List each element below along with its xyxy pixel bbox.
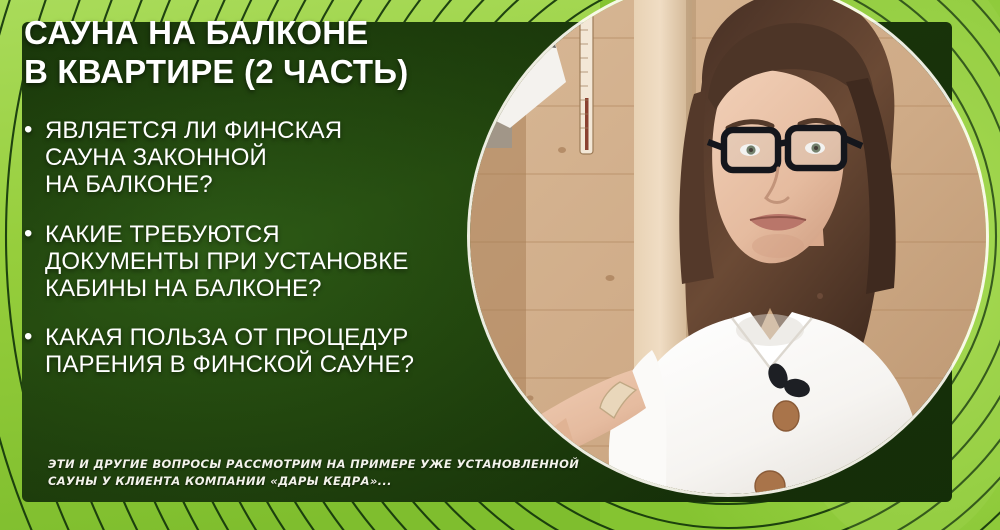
- list-item-question-2: КАКИЕ ТРЕБУЮТСЯ ДОКУМЕНТЫ ПРИ УСТАНОВКЕ …: [24, 221, 494, 302]
- poster-canvas: САУНА НА БАЛКОНЕ В КВАРТИРЕ (2 ЧАСТЬ) ЯВ…: [0, 0, 1000, 530]
- list-item-question-1: ЯВЛЯЕТСЯ ЛИ ФИНСКАЯ САУНА ЗАКОННОЙ НА БА…: [24, 117, 494, 198]
- page-title: САУНА НА БАЛКОНЕ В КВАРТИРЕ (2 ЧАСТЬ): [24, 14, 494, 91]
- list-item-question-3: КАКАЯ ПОЛЬЗА ОТ ПРОЦЕДУР ПАРЕНИЯ В ФИНСК…: [24, 324, 494, 378]
- presenter-photo: [470, 0, 986, 494]
- text-block: САУНА НА БАЛКОНЕ В КВАРТИРЕ (2 ЧАСТЬ) ЯВ…: [24, 14, 494, 400]
- footnote-text: ЭТИ И ДРУГИЕ ВОПРОСЫ РАССМОТРИМ НА ПРИМЕ…: [48, 456, 588, 489]
- question-list: ЯВЛЯЕТСЯ ЛИ ФИНСКАЯ САУНА ЗАКОННОЙ НА БА…: [24, 117, 494, 378]
